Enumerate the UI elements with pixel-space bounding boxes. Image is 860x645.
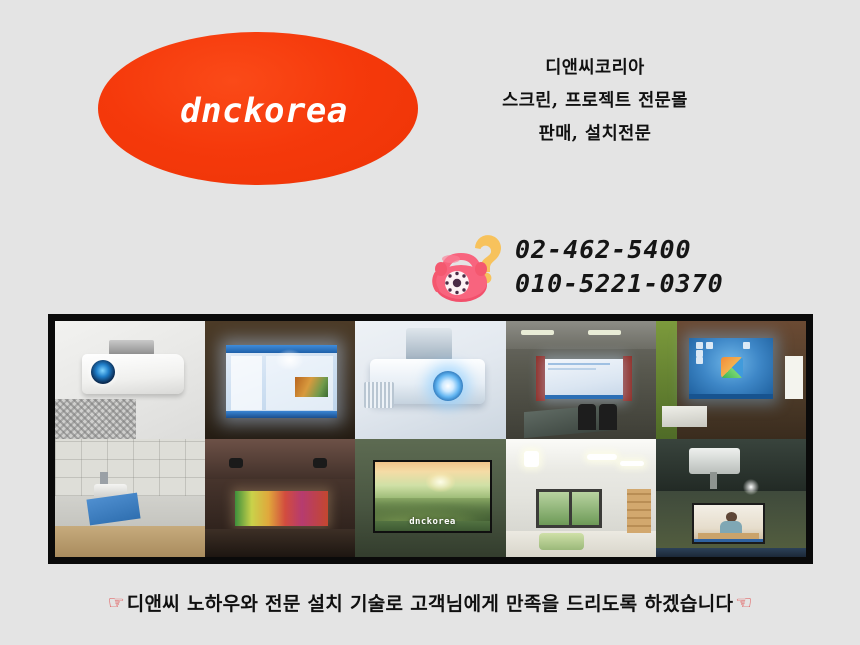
- photo-gallery-grid: dnckorea: [55, 321, 806, 557]
- tagline-line-3: 판매, 설치전문: [430, 118, 760, 151]
- footer-slogan-bar: ☞ 디앤씨 노하우와 전문 설치 기술로 고객님에게 만족을 드리도록 하겠습니…: [0, 582, 860, 622]
- contact-block: 02-462-5400 010-5221-0370: [425, 225, 785, 310]
- gallery-photo-2[interactable]: [205, 321, 355, 439]
- tagline-line-1: 디앤씨코리아: [430, 52, 760, 85]
- gallery-photo-9[interactable]: [506, 439, 656, 557]
- gallery-photo-7[interactable]: [205, 439, 355, 557]
- pointing-hand-left-icon: ☜: [735, 594, 752, 613]
- tagline-line-2: 스크린, 프로젝트 전문몰: [430, 85, 760, 118]
- company-logo[interactable]: dnckorea: [98, 32, 418, 185]
- tagline-block: 디앤씨코리아 스크린, 프로젝트 전문몰 판매, 설치전문: [430, 52, 760, 151]
- pointing-hand-right-icon: ☞: [108, 594, 125, 613]
- gallery-photo-10[interactable]: [656, 439, 806, 557]
- logo-text: dnckorea: [180, 91, 348, 131]
- phone-number-office[interactable]: 02-462-5400: [515, 233, 724, 267]
- telephone-question-icon: [425, 228, 511, 308]
- gallery-photo-1[interactable]: [55, 321, 205, 439]
- gallery-photo-3[interactable]: [355, 321, 505, 439]
- gallery-photo-6[interactable]: [55, 439, 205, 557]
- gallery-photo-5[interactable]: [656, 321, 806, 439]
- projected-logo-caption: dnckorea: [375, 517, 489, 527]
- phone-numbers: 02-462-5400 010-5221-0370: [515, 233, 724, 303]
- gallery-photo-4[interactable]: [506, 321, 656, 439]
- gallery-photo-8[interactable]: dnckorea: [355, 439, 505, 557]
- photo-gallery-frame: dnckorea: [48, 314, 813, 564]
- header-banner: dnckorea 디앤씨코리아 스크린, 프로젝트 전문몰 판매, 설치전문: [0, 0, 860, 210]
- footer-slogan-text: 디앤씨 노하우와 전문 설치 기술로 고객님에게 만족을 드리도록 하겠습니다: [125, 589, 736, 616]
- phone-number-mobile[interactable]: 010-5221-0370: [515, 267, 724, 301]
